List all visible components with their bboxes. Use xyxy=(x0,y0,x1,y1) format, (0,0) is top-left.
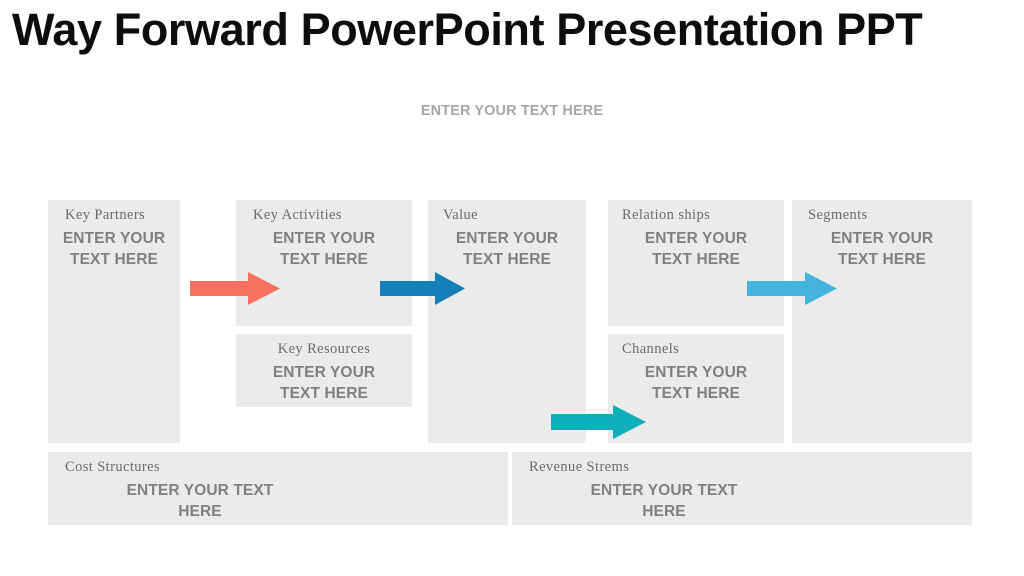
panel-key-resources[interactable]: Key Resources ENTER YOUR TEXT HERE xyxy=(236,334,412,407)
arrow-right-icon-key-activities-to-value xyxy=(380,272,465,305)
panel-key-partners-body[interactable]: ENTER YOUR TEXT HERE xyxy=(48,228,180,270)
panel-revenue-strems[interactable]: Revenue Strems ENTER YOUR TEXT HERE xyxy=(512,452,972,525)
panel-cost-structures-heading: Cost Structures xyxy=(65,459,160,476)
arrow-right-icon-value-to-channels xyxy=(551,405,646,439)
panel-key-activities[interactable]: Key Activities ENTER YOUR TEXT HERE xyxy=(236,200,412,326)
panel-key-partners-heading: Key Partners xyxy=(65,207,145,224)
panel-revenue-strems-body[interactable]: ENTER YOUR TEXT HERE xyxy=(529,480,799,522)
panel-relationships-body[interactable]: ENTER YOUR TEXT HERE xyxy=(608,228,784,270)
panel-segments[interactable]: Segments ENTER YOUR TEXT HERE xyxy=(792,200,972,443)
arrow-right-icon-key-partners-to-key-activities xyxy=(190,272,280,305)
panel-key-resources-body[interactable]: ENTER YOUR TEXT HERE xyxy=(236,362,412,404)
panel-cost-structures-body[interactable]: ENTER YOUR TEXT HERE xyxy=(65,480,335,522)
arrow-right-icon-relationships-to-segments xyxy=(747,272,837,305)
panel-cost-structures[interactable]: Cost Structures ENTER YOUR TEXT HERE xyxy=(48,452,508,525)
subtitle-placeholder: ENTER YOUR TEXT HERE xyxy=(0,103,1024,119)
slide-canvas: Way Forward PowerPoint Presentation PPT … xyxy=(0,0,1024,576)
panel-value-heading: Value xyxy=(443,207,478,224)
panel-segments-body[interactable]: ENTER YOUR TEXT HERE xyxy=(792,228,972,270)
panel-relationships-heading: Relation ships xyxy=(622,207,710,224)
panel-segments-heading: Segments xyxy=(808,207,868,224)
panel-channels-body[interactable]: ENTER YOUR TEXT HERE xyxy=(608,362,784,404)
panel-key-resources-heading: Key Resources xyxy=(236,341,412,358)
panel-relationships[interactable]: Relation ships ENTER YOUR TEXT HERE xyxy=(608,200,784,326)
panel-key-activities-body[interactable]: ENTER YOUR TEXT HERE xyxy=(236,228,412,270)
panel-key-activities-heading: Key Activities xyxy=(253,207,342,224)
panel-value-body[interactable]: ENTER YOUR TEXT HERE xyxy=(428,228,586,270)
panel-revenue-strems-heading: Revenue Strems xyxy=(529,459,629,476)
page-title: Way Forward PowerPoint Presentation PPT xyxy=(12,4,1018,56)
panel-channels-heading: Channels xyxy=(622,341,679,358)
panel-key-partners[interactable]: Key Partners ENTER YOUR TEXT HERE xyxy=(48,200,180,443)
